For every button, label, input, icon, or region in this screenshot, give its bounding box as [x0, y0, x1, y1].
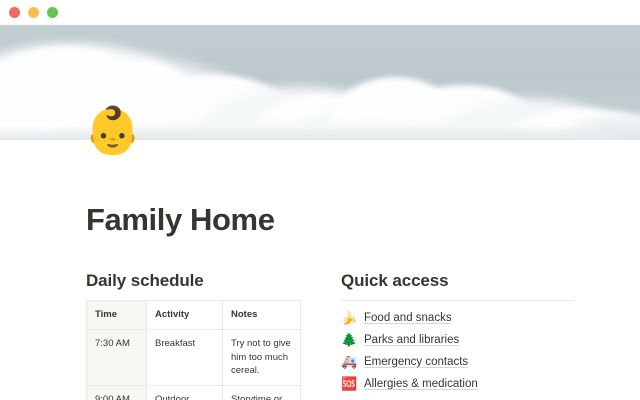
page-title: Family Home — [86, 202, 600, 238]
list-item[interactable]: 🆘 Allergies & medication — [341, 377, 600, 390]
quick-access-list: 🍌 Food and snacks 🌲 Parks and libraries … — [341, 311, 600, 390]
quick-access-divider — [341, 300, 573, 301]
quick-access-column: Quick access 🍌 Food and snacks 🌲 Parks a… — [341, 271, 600, 400]
minimize-window-button[interactable] — [28, 7, 39, 18]
cell-activity[interactable]: Outdoor — [147, 386, 223, 400]
page-body: 👶 Family Home Daily schedule Time Activi… — [0, 140, 640, 400]
close-window-button[interactable] — [9, 7, 20, 18]
quick-access-link-emergency[interactable]: Emergency contacts — [364, 356, 468, 368]
column-header-activity[interactable]: Activity — [147, 301, 223, 330]
ambulance-emoji: 🚑 — [341, 355, 356, 368]
table-header-row: Time Activity Notes — [87, 301, 301, 330]
cell-time[interactable]: 9:00 AM — [87, 386, 147, 400]
evergreen-tree-emoji: 🌲 — [341, 333, 356, 346]
daily-schedule-table[interactable]: Time Activity Notes 7:30 AM Breakfast Tr… — [86, 300, 301, 400]
list-item[interactable]: 🌲 Parks and libraries — [341, 333, 600, 346]
daily-schedule-column: Daily schedule Time Activity Notes 7:30 … — [86, 271, 301, 400]
quick-access-link-allergies[interactable]: Allergies & medication — [364, 378, 478, 390]
two-column-layout: Daily schedule Time Activity Notes 7:30 … — [86, 271, 600, 400]
cell-activity[interactable]: Breakfast — [147, 329, 223, 385]
column-header-time[interactable]: Time — [87, 301, 147, 330]
list-item[interactable]: 🚑 Emergency contacts — [341, 355, 600, 368]
window-titlebar — [0, 0, 640, 25]
quick-access-link-food[interactable]: Food and snacks — [364, 312, 452, 324]
table-row[interactable]: 9:00 AM Outdoor Storytime or local park — [87, 386, 301, 400]
daily-schedule-heading: Daily schedule — [86, 271, 301, 291]
sos-emoji: 🆘 — [341, 377, 356, 390]
baby-emoji[interactable]: 👶 — [84, 107, 141, 153]
maximize-window-button[interactable] — [47, 7, 58, 18]
cell-time[interactable]: 7:30 AM — [87, 329, 147, 385]
page-content: Family Home Daily schedule Time Activity… — [0, 140, 640, 400]
quick-access-link-parks[interactable]: Parks and libraries — [364, 334, 459, 346]
table-row[interactable]: 7:30 AM Breakfast Try not to give him to… — [87, 329, 301, 385]
banana-emoji: 🍌 — [341, 311, 356, 324]
quick-access-heading: Quick access — [341, 271, 600, 291]
table-body: 7:30 AM Breakfast Try not to give him to… — [87, 329, 301, 400]
column-header-notes[interactable]: Notes — [223, 301, 301, 330]
table-head: Time Activity Notes — [87, 301, 301, 330]
cell-notes[interactable]: Try not to give him too much cereal. — [223, 329, 301, 385]
list-item[interactable]: 🍌 Food and snacks — [341, 311, 600, 324]
cell-notes[interactable]: Storytime or local park — [223, 386, 301, 400]
